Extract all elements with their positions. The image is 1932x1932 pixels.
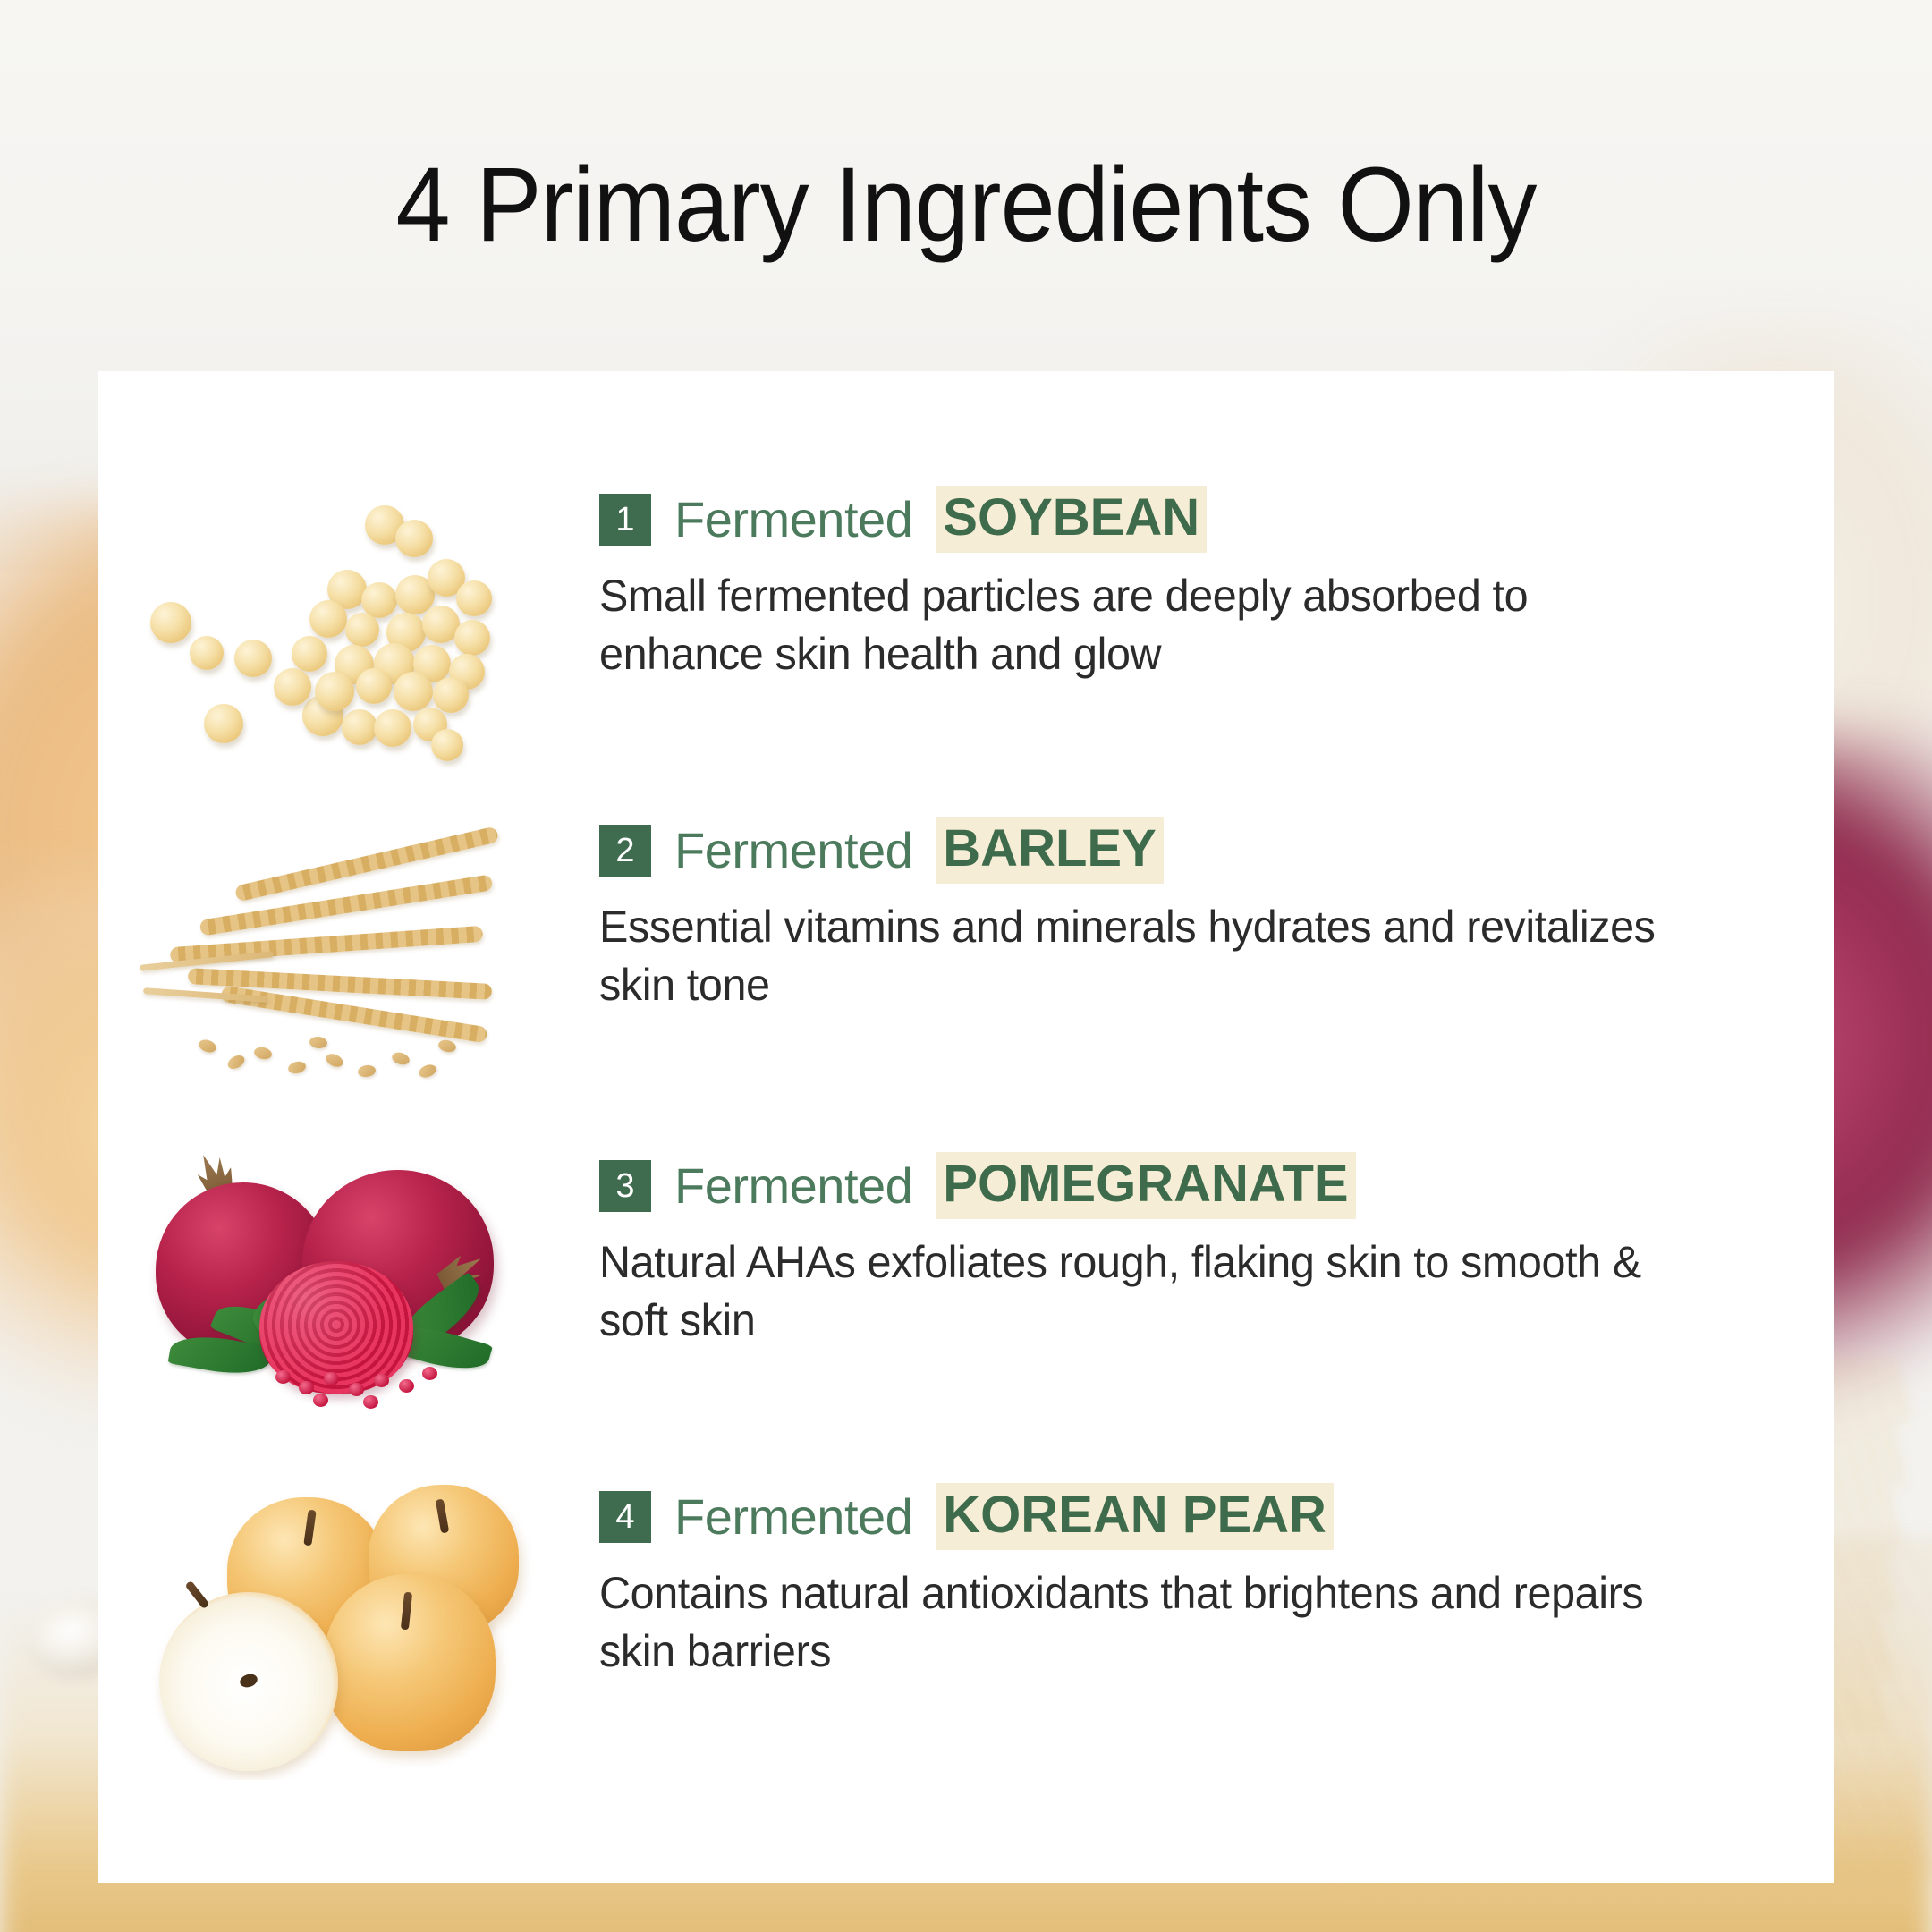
ingredient-name: POMEGRANATE [936, 1152, 1355, 1219]
ingredient-heading: 1 Fermented SOYBEAN [599, 486, 1798, 553]
pomegranate-photo [134, 1136, 537, 1449]
ingredient-thumbnail [98, 1127, 599, 1458]
ingredient-heading: 4 Fermented KOREAN PEAR [599, 1483, 1798, 1550]
soybean-photo [134, 470, 537, 783]
ingredient-number-badge: 4 [599, 1491, 651, 1543]
ingredient-thumbnail [98, 792, 599, 1123]
ingredient-prefix: Fermented [674, 490, 912, 548]
ingredient-text: 1 Fermented SOYBEAN Small fermented part… [599, 461, 1834, 683]
ingredient-name: BARLEY [936, 817, 1163, 884]
infographic-stage: 4 Primary Ingredients Only [0, 0, 1932, 1932]
ingredient-number-badge: 1 [599, 494, 651, 546]
barley-photo [134, 801, 537, 1114]
ingredient-number-badge: 2 [599, 825, 651, 877]
ingredient-row: 4 Fermented KOREAN PEAR Contains natural… [98, 1458, 1834, 1807]
ingredient-thumbnail [98, 1458, 599, 1789]
ingredients-card: 1 Fermented SOYBEAN Small fermented part… [98, 371, 1834, 1883]
ingredient-name: KOREAN PEAR [936, 1483, 1334, 1550]
korean-pear-photo [134, 1467, 537, 1780]
ingredient-heading: 2 Fermented BARLEY [599, 817, 1798, 884]
ingredient-row: 2 Fermented BARLEY Essential vitamins an… [98, 792, 1834, 1140]
ingredient-thumbnail [98, 461, 599, 792]
ingredient-row: 3 Fermented POMEGRANATE Natural AHAs exf… [98, 1127, 1834, 1476]
ingredient-name: SOYBEAN [936, 486, 1207, 553]
ingredient-text: 2 Fermented BARLEY Essential vitamins an… [599, 792, 1834, 1014]
ingredient-prefix: Fermented [674, 1157, 912, 1215]
page-title: 4 Primary Ingredients Only [68, 152, 1865, 258]
ingredient-row: 1 Fermented SOYBEAN Small fermented part… [98, 461, 1834, 809]
ingredient-number-badge: 3 [599, 1160, 651, 1212]
ingredient-prefix: Fermented [674, 821, 912, 879]
ingredient-description: Contains natural antioxidants that brigh… [599, 1564, 1692, 1681]
ingredient-prefix: Fermented [674, 1487, 912, 1546]
ingredient-text: 3 Fermented POMEGRANATE Natural AHAs exf… [599, 1127, 1834, 1350]
ingredient-description: Natural AHAs exfoliates rough, flaking s… [599, 1233, 1692, 1350]
ingredient-description: Essential vitamins and minerals hydrates… [599, 898, 1692, 1014]
ingredient-description: Small fermented particles are deeply abs… [599, 567, 1692, 683]
ingredient-text: 4 Fermented KOREAN PEAR Contains natural… [599, 1458, 1834, 1681]
ingredient-heading: 3 Fermented POMEGRANATE [599, 1152, 1798, 1219]
